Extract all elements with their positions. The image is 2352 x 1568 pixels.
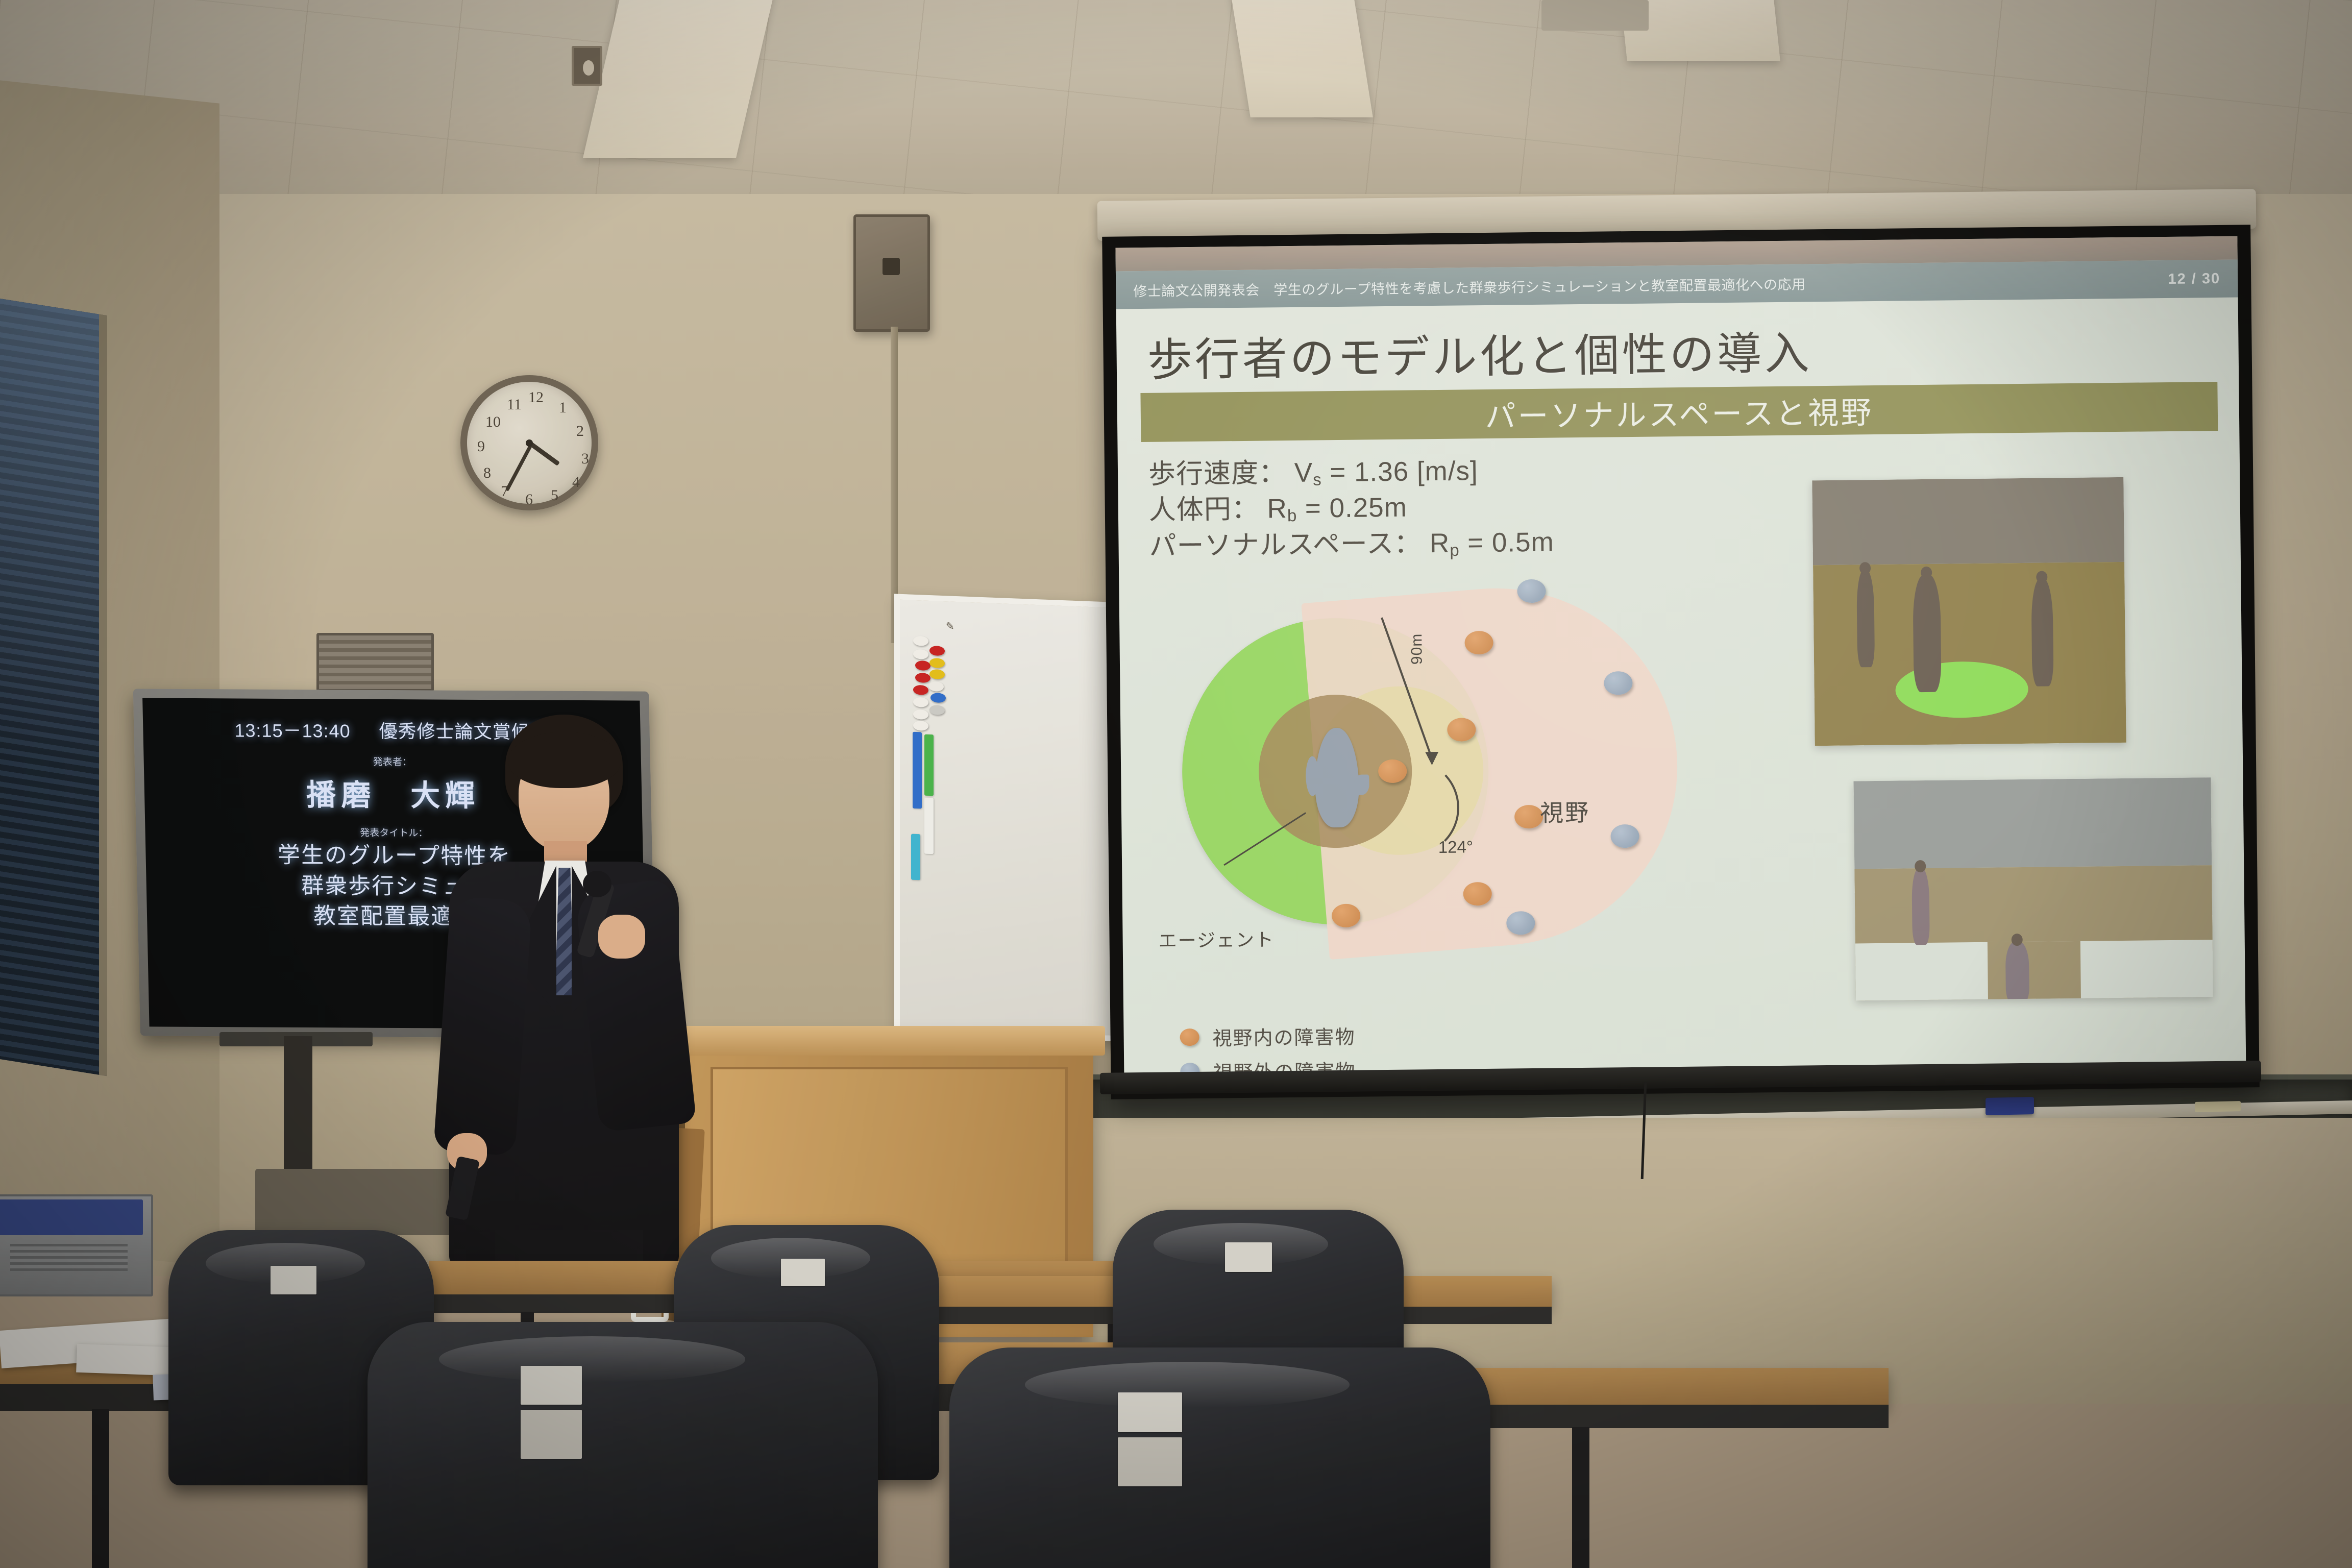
whiteboard-magnet[interactable] (913, 636, 928, 646)
clock-numeral: 5 (551, 487, 558, 504)
chair-asset-tag (271, 1266, 316, 1294)
equipment-vent-grille (10, 1240, 128, 1271)
podium-top-surface (674, 1026, 1105, 1056)
sim-sky (1853, 777, 2212, 869)
lecture-room-scene: 12 1 2 3 4 5 6 7 8 9 10 11 ✎ (0, 0, 2352, 1568)
parameter-label: 歩行速度： (1148, 458, 1287, 489)
whiteboard-magnet[interactable] (913, 721, 928, 731)
ceiling-vent-icon (572, 46, 602, 86)
clock-numeral: 1 (559, 399, 567, 416)
clock-numeral: 2 (576, 423, 584, 440)
parameter-subscript: b (1287, 506, 1297, 525)
sim-avatar (2005, 942, 2029, 1000)
whiteboard-magnet[interactable] (913, 709, 928, 720)
whiteboard-magnet[interactable] (913, 697, 928, 707)
whiteboard-magnet[interactable] (930, 693, 946, 703)
parameter-label: パーソナルスペース： (1149, 528, 1422, 561)
chair-asset-tag (521, 1366, 582, 1405)
parameter-label: 人体円： (1149, 494, 1260, 525)
clock-numeral: 10 (485, 413, 501, 431)
sim-avatar-head (2012, 934, 2023, 946)
blue-cover-cloth (0, 1199, 143, 1235)
clock-center-pin (526, 439, 533, 447)
parameter-symbol: R (1430, 528, 1450, 558)
whiteboard-magnet[interactable] (913, 685, 928, 695)
clock-numeral: 8 (483, 464, 491, 482)
parameter-row: 歩行速度： Vs = 1.36 [m/s] (1148, 450, 1787, 493)
fov-label: 視野 (1540, 794, 1590, 828)
chair-highlight (1025, 1362, 1350, 1408)
projection-screen: 修士論文公開発表会 学生のグループ特性を考慮した群衆歩行シミュレーションと教室配… (1102, 225, 2260, 1099)
chair-asset-tag (521, 1410, 582, 1459)
radius-label: 90m (1408, 633, 1426, 665)
ceiling-projector (1541, 0, 1649, 31)
window-light-glow (0, 297, 99, 1075)
sim-pillar (1988, 941, 2081, 999)
legend-item: 視野内の障害物 (1180, 1021, 1356, 1051)
parameter-value: = 1.36 [m/s] (1330, 456, 1478, 487)
parameter-row: パーソナルスペース： Rp = 0.5m (1149, 522, 1787, 565)
sim-avatar-head (1921, 567, 1932, 579)
tv-presenter-caption: 発表者： (373, 754, 412, 768)
whiteboard-marker[interactable] (924, 798, 934, 854)
ceiling-tile-grid (0, 0, 2352, 219)
legend-swatch-inside-fov (1180, 1028, 1199, 1045)
whiteboard-magnet[interactable] (929, 705, 945, 715)
presentation-slide: 修士論文公開発表会 学生のグループ特性を考慮した群衆歩行シミュレーションと教室配… (1115, 236, 2246, 1088)
chair[interactable] (367, 1322, 878, 1568)
whiteboard[interactable]: ✎ (894, 594, 1125, 1041)
window (0, 297, 107, 1076)
presenter (419, 715, 704, 1261)
chair[interactable] (949, 1347, 1490, 1568)
desk-leg (1572, 1427, 1589, 1568)
slide-header-title: 修士論文公開発表会 学生のグループ特性を考慮した群衆歩行シミュレーションと教室配… (1133, 273, 1806, 300)
whiteboard-magnet[interactable] (929, 658, 945, 668)
vision-diagram: 90m 124° エージェント 視野 (1160, 594, 1736, 1018)
slide-subtitle-band: パーソナルスペースと視野 (1140, 382, 2218, 442)
slide-title: 歩行者のモデル化と個性の導入 (1147, 317, 1812, 389)
whiteboard-magnet[interactable] (929, 669, 945, 679)
chair-asset-tag (781, 1259, 825, 1286)
angle-label: 124° (1438, 837, 1474, 857)
chair-highlight (439, 1336, 745, 1382)
whiteboard-marker[interactable] (911, 834, 920, 880)
parameter-subscript: p (1450, 541, 1460, 559)
sim-avatar-head (1859, 562, 1871, 574)
sim-avatar-head (1915, 860, 1926, 872)
simulation-screenshot-wide (1853, 777, 2213, 1000)
chair-asset-tag (1118, 1437, 1182, 1486)
sim-avatar (2031, 579, 2053, 686)
clock-numeral: 9 (477, 438, 485, 455)
parameter-symbol: R (1267, 494, 1287, 524)
clock-numeral: 4 (572, 474, 580, 491)
whiteboard-magnet[interactable] (915, 660, 930, 671)
tv-title-caption: 発表タイトル： (360, 825, 428, 840)
parameter-subscript: s (1313, 470, 1322, 489)
sim-sky (1812, 477, 2124, 566)
whiteboard-magnet[interactable] (928, 681, 944, 692)
whiteboard-marker[interactable] (913, 732, 922, 809)
presenter-hair-front (508, 732, 621, 788)
legend-label: 視野内の障害物 (1212, 1021, 1356, 1051)
parameter-value: = 0.25m (1305, 493, 1408, 524)
presenter-hand-right (598, 915, 645, 959)
clock-hour-hand (529, 442, 560, 465)
clock-numeral: 3 (581, 450, 589, 468)
slide-parameter-list: 歩行速度： Vs = 1.36 [m/s] 人体円： Rb = 0.25m パー… (1148, 450, 1787, 565)
equipment-rack (316, 633, 434, 692)
whiteboard-magnet[interactable] (929, 646, 945, 656)
sim-avatar (1913, 575, 1941, 693)
microphone-head-icon (583, 871, 611, 897)
simulation-screenshot-closeup (1812, 477, 2126, 746)
tv-time-slot: 13:15－13:40 (234, 716, 351, 743)
agent-label: エージェント (1158, 925, 1275, 952)
blackboard-eraser[interactable] (1986, 1097, 2034, 1115)
clock-minute-hand (505, 445, 532, 492)
parameter-symbol: V (1294, 458, 1313, 488)
slide-page-number: 12 / 30 (2168, 270, 2220, 287)
desk-leg (92, 1409, 109, 1568)
clock-numeral: 12 (528, 389, 544, 406)
sim-avatar (1857, 570, 1875, 667)
chair-asset-tag (1225, 1242, 1272, 1272)
whiteboard-magnet[interactable] (915, 673, 930, 683)
wall-speaker-box (853, 214, 930, 332)
whiteboard-marker[interactable] (924, 734, 934, 796)
sim-avatar-head (2036, 571, 2047, 583)
ceiling-light-fixture (1230, 0, 1373, 117)
parameter-row: 人体円： Rb = 0.25m (1148, 486, 1787, 529)
whiteboard-magnet[interactable] (913, 649, 928, 659)
whiteboard-scribble: ✎ (946, 620, 964, 631)
ceiling (0, 0, 2352, 219)
parameter-value: = 0.5m (1467, 527, 1554, 558)
clock-numeral: 6 (525, 491, 533, 508)
clock-numeral: 11 (507, 396, 522, 413)
sim-avatar (1912, 868, 1930, 945)
wall-clock: 12 1 2 3 4 5 6 7 8 9 10 11 (460, 375, 598, 510)
chair-asset-tag (1118, 1392, 1182, 1432)
chalk-stick[interactable] (2195, 1101, 2241, 1112)
